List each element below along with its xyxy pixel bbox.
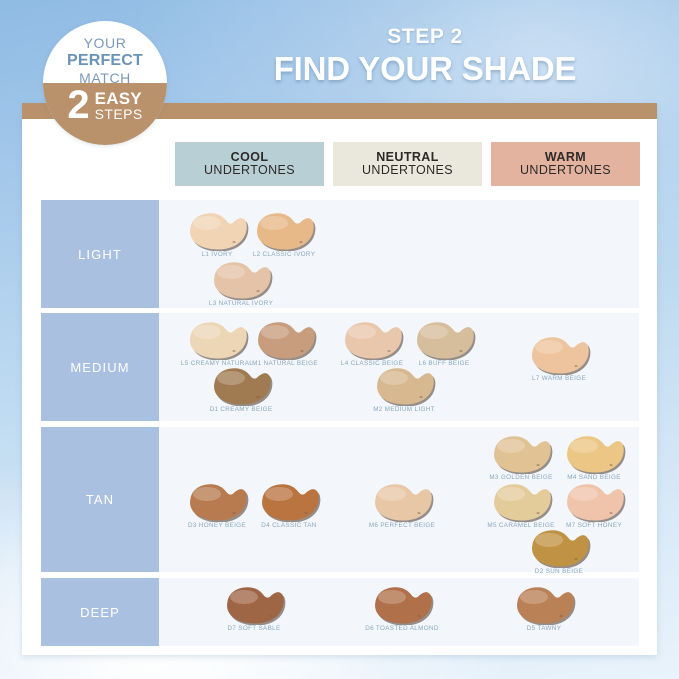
shade-swatch[interactable]: L4 CLASSIC BEIGE [340, 320, 404, 360]
shade-blob-icon [489, 482, 553, 522]
shade-swatch[interactable]: L1 IVORY [185, 211, 249, 251]
shade-blob [562, 482, 626, 522]
shade-finder-poster: STEP 2 FIND YOUR SHADE LIGHTL1 IVORYL2 C… [0, 0, 679, 679]
shade-name-label: D6 TOASTED ALMOND [365, 625, 439, 632]
shade-swatch[interactable]: L7 WARM BEIGE [527, 335, 591, 375]
shade-blob-icon [185, 482, 249, 522]
shade-blob-highlight [378, 487, 406, 501]
shade-blob [370, 585, 434, 625]
shade-blob [562, 434, 626, 474]
shade-swatch[interactable]: M4 SAND BEIGE [562, 434, 626, 474]
shade-blob-highlight [193, 216, 221, 230]
shade-swatch[interactable]: D7 SOFT SABLE [222, 585, 286, 625]
undertone-sublabel: UNDERTONES [520, 164, 611, 178]
shade-name-label: D2 SUN BEIGE [535, 568, 583, 575]
shade-swatch[interactable]: L6 BUFF BEIGE [412, 320, 476, 360]
shade-blob-highlight [193, 487, 221, 501]
shade-name-label: M2 MEDIUM LIGHT [373, 406, 435, 413]
shade-blob-highlight [535, 340, 563, 354]
shade-swatch[interactable]: D2 SUN BEIGE [527, 528, 591, 568]
shade-blob-speck [609, 464, 612, 466]
shade-blob-speck [387, 350, 390, 352]
badge-line-perfect: PERFECT [43, 52, 167, 71]
shade-blob-speck [232, 512, 235, 514]
undertone-header-row: COOLUNDERTONESNEUTRALUNDERTONESWARMUNDER… [175, 142, 640, 186]
shade-blob-speck [574, 558, 577, 560]
shade-blob [185, 211, 249, 251]
shade-blob [527, 335, 591, 375]
shade-blob [252, 211, 316, 251]
undertone-header-warm[interactable]: WARMUNDERTONES [491, 142, 640, 186]
shade-blob-speck [232, 241, 235, 243]
shade-blob-speck [299, 241, 302, 243]
shade-swatch[interactable]: L2 CLASSIC IVORY [252, 211, 316, 251]
shade-blob-speck [417, 615, 420, 617]
shade-blob [222, 585, 286, 625]
shade-name-label: D5 TAWNY [527, 625, 562, 632]
undertone-header-cool[interactable]: COOLUNDERTONES [175, 142, 324, 186]
shade-blob-icon [512, 585, 576, 625]
shade-blob-icon [209, 260, 273, 300]
shade-name-label: D7 SOFT SABLE [227, 625, 280, 632]
badge-line-match: MATCH [43, 70, 167, 87]
undertone-name: NEUTRAL [376, 151, 439, 165]
shade-blob-highlight [261, 325, 289, 339]
shade-blob-icon [340, 320, 404, 360]
shade-swatch[interactable]: L3 NATURAL IVORY [209, 260, 273, 300]
shade-name-label: D3 HONEY BEIGE [188, 522, 246, 529]
badge-upper-text: YOUR PERFECT MATCH [43, 35, 167, 87]
shade-blob-speck [232, 350, 235, 352]
shade-blob [257, 482, 321, 522]
badge-steps-stack: EASY STEPS [95, 90, 143, 121]
shade-blob-speck [304, 512, 307, 514]
undertone-name: COOL [231, 151, 269, 165]
shade-blob [512, 585, 576, 625]
undertone-sublabel: UNDERTONES [204, 164, 295, 178]
shade-blob-icon [370, 585, 434, 625]
shade-blob [185, 482, 249, 522]
shade-blob-speck [256, 290, 259, 292]
category-label: DEEP [80, 605, 120, 620]
shade-blob-icon [222, 585, 286, 625]
shade-blob [412, 320, 476, 360]
shade-blob [209, 366, 273, 406]
shade-swatch[interactable]: M3 GOLDEN BEIGE [489, 434, 553, 474]
shade-name-label: M4 SAND BEIGE [567, 474, 621, 481]
undertone-sublabel: UNDERTONES [362, 164, 453, 178]
shade-swatch[interactable]: M5 CARAMEL BEIGE [489, 482, 553, 522]
shade-name-label: L3 NATURAL IVORY [209, 300, 273, 307]
shade-blob-icon [253, 320, 317, 360]
shade-blob-highlight [420, 325, 448, 339]
shade-swatch[interactable]: D1 CREAMY BEIGE [209, 366, 273, 406]
shade-swatch[interactable]: M6 PERFECT BEIGE [370, 482, 434, 522]
shade-blob-icon [257, 482, 321, 522]
shade-name-label: D1 CREAMY BEIGE [210, 406, 273, 413]
shade-blob-highlight [520, 590, 548, 604]
badge-label-steps: STEPS [95, 107, 143, 121]
shade-blob-speck [574, 365, 577, 367]
shade-swatch[interactable]: M1 NATURAL BEIGE [253, 320, 317, 360]
shade-blob-icon [527, 528, 591, 568]
shade-blob-speck [417, 512, 420, 514]
shade-blob-icon [562, 482, 626, 522]
perfect-match-badge: YOUR PERFECT MATCH 2 EASY STEPS [43, 21, 167, 145]
shade-blob [489, 482, 553, 522]
shade-blob-speck [536, 464, 539, 466]
category-label: LIGHT [78, 247, 122, 262]
badge-lower-text: 2 EASY STEPS [43, 87, 167, 124]
shade-blob-speck [459, 350, 462, 352]
shade-blob-highlight [217, 265, 245, 279]
shade-swatch[interactable]: M7 SOFT HONEY [562, 482, 626, 522]
shade-blob-icon [527, 335, 591, 375]
category-label: TAN [86, 492, 114, 507]
shade-name-label: D4 CLASSIC TAN [261, 522, 316, 529]
category-chip-medium[interactable]: MEDIUM [41, 313, 159, 421]
category-chip-deep[interactable]: DEEP [41, 578, 159, 646]
shade-blob [372, 366, 436, 406]
shade-blob-highlight [260, 216, 288, 230]
category-label: MEDIUM [70, 360, 129, 375]
badge-number: 2 [67, 87, 89, 124]
shade-blob-speck [300, 350, 303, 352]
shade-name-label: M6 PERFECT BEIGE [369, 522, 435, 529]
shade-blob [489, 434, 553, 474]
shade-swatch[interactable]: D5 TAWNY [512, 585, 576, 625]
category-chip-light[interactable]: LIGHT [41, 200, 159, 308]
shade-blob-highlight [535, 533, 563, 547]
shade-name-label: L7 WARM BEIGE [532, 375, 586, 382]
shade-blob-speck [269, 615, 272, 617]
shade-blob-highlight [380, 371, 408, 385]
shade-blob-speck [609, 512, 612, 514]
shade-blob-highlight [193, 325, 221, 339]
undertone-header-neutral[interactable]: NEUTRALUNDERTONES [333, 142, 482, 186]
shade-blob-icon [185, 320, 249, 360]
shade-blob-speck [559, 615, 562, 617]
shade-blob-icon [370, 482, 434, 522]
shade-blob-highlight [570, 439, 598, 453]
shade-blob-icon [252, 211, 316, 251]
badge-label-easy: EASY [95, 90, 143, 107]
shade-blob-highlight [497, 439, 525, 453]
shade-swatch[interactable]: L5 CREAMY NATURAL [185, 320, 249, 360]
shade-blob-icon [489, 434, 553, 474]
shade-name-label: L2 CLASSIC IVORY [253, 251, 316, 258]
shade-blob [370, 482, 434, 522]
shade-blob [527, 528, 591, 568]
page-heading: STEP 2 FIND YOUR SHADE [190, 26, 660, 88]
category-chip-tan[interactable]: TAN [41, 427, 159, 572]
step-label: STEP 2 [190, 26, 660, 47]
shade-blob-highlight [348, 325, 376, 339]
shade-swatch[interactable]: D4 CLASSIC TAN [257, 482, 321, 522]
shade-blob [209, 260, 273, 300]
shade-blob [185, 320, 249, 360]
shade-blob-highlight [230, 590, 258, 604]
shade-blob-icon [562, 434, 626, 474]
shade-blob-icon [372, 366, 436, 406]
badge-line-your: YOUR [43, 35, 167, 52]
page-title: FIND YOUR SHADE [190, 51, 660, 88]
shade-blob-speck [419, 396, 422, 398]
shade-swatch[interactable]: D6 TOASTED ALMOND [370, 585, 434, 625]
shade-blob-highlight [217, 371, 245, 385]
shade-blob-icon [185, 211, 249, 251]
shade-blob [253, 320, 317, 360]
shade-name-label: L1 IVORY [201, 251, 232, 258]
shade-blob-highlight [378, 590, 406, 604]
shade-blob [340, 320, 404, 360]
shade-blob-icon [412, 320, 476, 360]
shade-blob-highlight [265, 487, 293, 501]
shade-swatch[interactable]: M2 MEDIUM LIGHT [372, 366, 436, 406]
undertone-name: WARM [545, 151, 586, 165]
shade-blob-icon [209, 366, 273, 406]
shade-blob-highlight [497, 487, 525, 501]
shade-name-label: M3 GOLDEN BEIGE [489, 474, 552, 481]
shade-blob-speck [536, 512, 539, 514]
shade-swatch[interactable]: D3 HONEY BEIGE [185, 482, 249, 522]
shade-blob-speck [256, 396, 259, 398]
shade-blob-highlight [570, 487, 598, 501]
